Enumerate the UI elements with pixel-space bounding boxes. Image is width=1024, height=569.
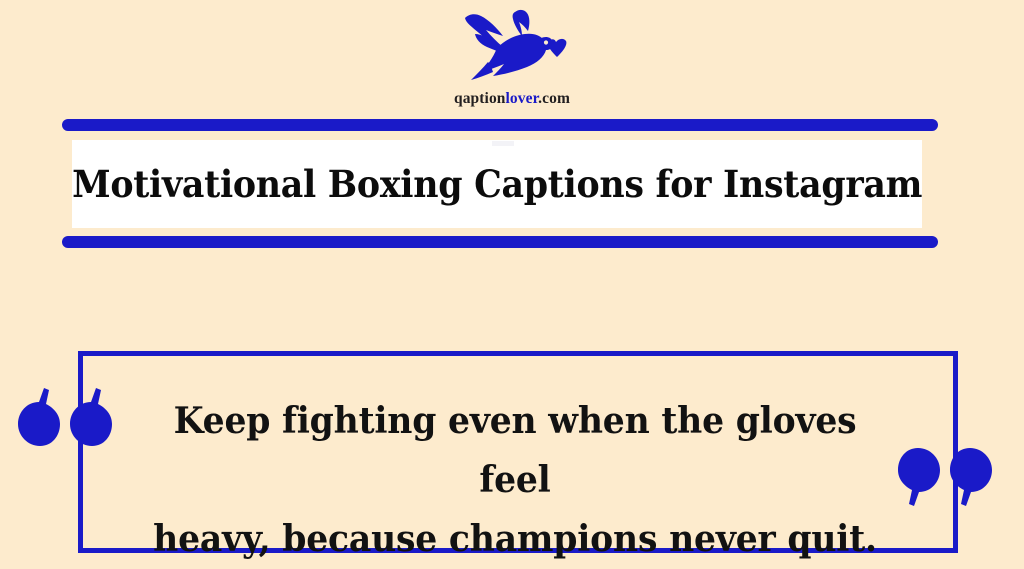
site-name-accent: lover bbox=[506, 90, 539, 107]
page-title: Motivational Boxing Captions for Instagr… bbox=[72, 162, 922, 206]
site-name: qaptionlover.com bbox=[454, 90, 570, 108]
quote-line-2: heavy, because champions never quit. bbox=[153, 518, 877, 560]
quote-text: Keep fighting even when the gloves feel … bbox=[136, 392, 894, 569]
site-logo-block: qaptionlover.com bbox=[0, 4, 1024, 108]
title-banner: Motivational Boxing Captions for Instagr… bbox=[62, 119, 938, 248]
title-box: Motivational Boxing Captions for Instagr… bbox=[72, 140, 922, 228]
site-name-prefix: qaption bbox=[454, 90, 506, 107]
site-name-suffix: .com bbox=[538, 90, 570, 107]
close-quote-mark-icon bbox=[898, 448, 994, 506]
dove-with-heart-logo-icon bbox=[453, 4, 571, 88]
quote-line-1: Keep fighting even when the gloves feel bbox=[174, 400, 857, 501]
title-bar-top-decoration bbox=[62, 119, 938, 131]
title-box-artifact bbox=[492, 141, 514, 146]
open-quote-mark-icon bbox=[18, 388, 114, 446]
title-bar-bottom-decoration bbox=[62, 236, 938, 248]
